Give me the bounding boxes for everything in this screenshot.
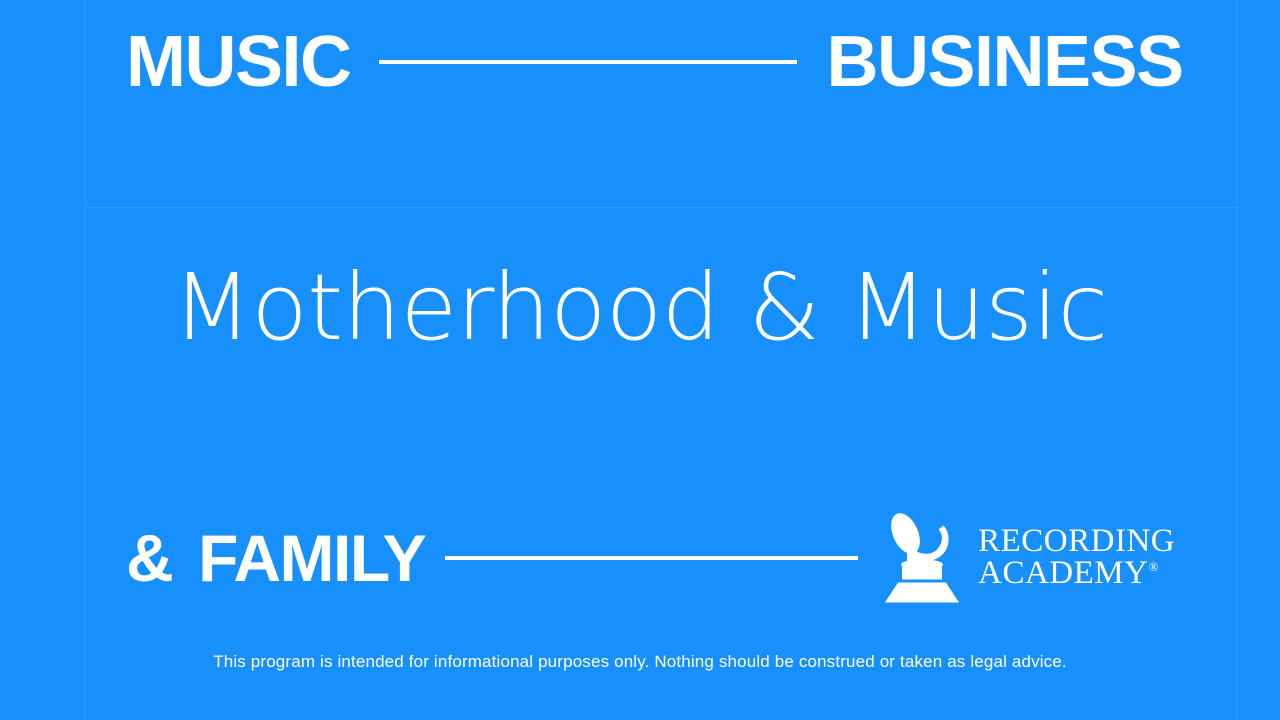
logo-line-recording: RECORDING <box>978 526 1175 558</box>
header-band: MUSIC BUSINESS <box>126 17 1204 107</box>
registered-mark-icon: ® <box>1148 559 1158 574</box>
footer-divider-rule <box>445 556 858 560</box>
header-kicker-left: MUSIC <box>126 26 351 98</box>
logo-line-academy: ACADEMY® <box>978 558 1175 590</box>
footer-band: & FAMILY RECORDING ACADEMY® <box>126 512 1208 604</box>
slide-title: Motherhood & Music <box>0 258 1280 357</box>
disclaimer-text: This program is intended for information… <box>0 652 1280 672</box>
recording-academy-wordmark: RECORDING ACADEMY® <box>978 526 1175 589</box>
recording-academy-logo: RECORDING ACADEMY® <box>880 510 1175 606</box>
gramophone-icon <box>880 510 964 606</box>
guide-line-horizontal <box>85 207 1237 208</box>
header-kicker-right: BUSINESS <box>827 26 1183 98</box>
footer-kicker-left: FAMILY <box>198 525 425 591</box>
guide-line-left <box>85 0 86 720</box>
guide-line-right <box>1237 0 1238 720</box>
header-divider-rule <box>379 60 797 64</box>
footer-ampersand: & <box>126 525 172 591</box>
logo-academy-text: ACADEMY <box>978 555 1148 591</box>
slide-canvas: MUSIC BUSINESS Motherhood & Music & FAMI… <box>0 0 1280 720</box>
